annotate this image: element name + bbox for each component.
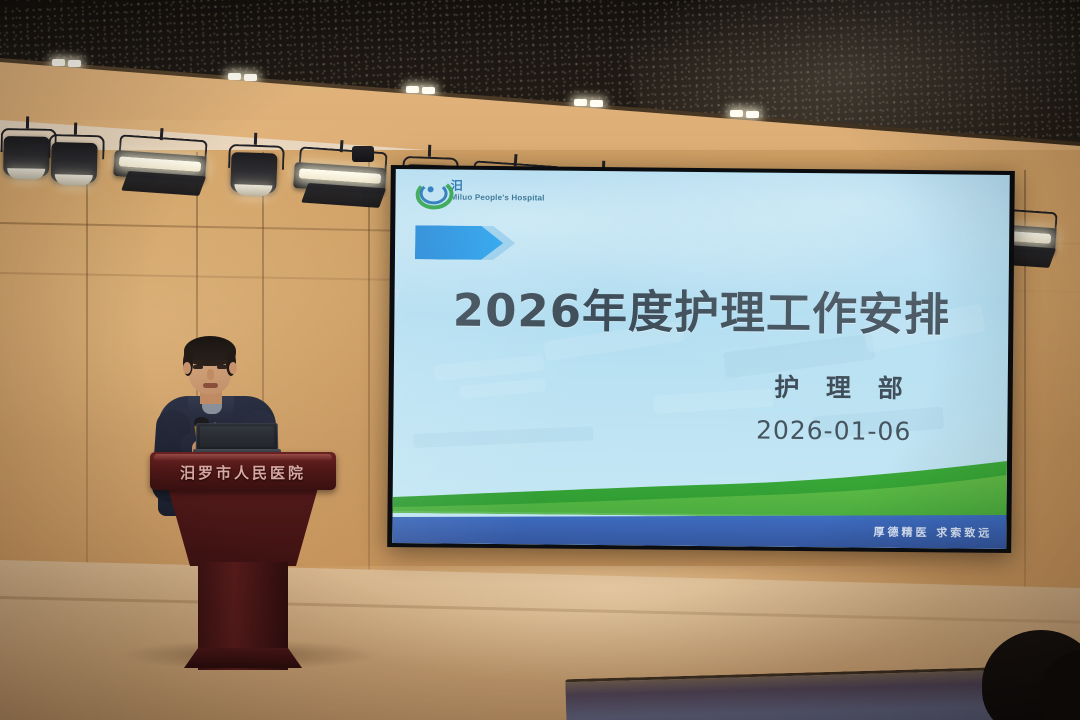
slide-footer-slogan: 厚德精医 求索致远 [873,524,992,541]
slide-department: 护 理 部 [774,368,912,405]
laptop-screen [200,426,274,447]
ceiling-downlight-icon [746,111,759,118]
speaker-eye [217,365,227,369]
slide-surface[interactable]: 汨 Miluo People's Hospital 2026年度护理工作安排 护… [392,169,1010,549]
ceiling-speaker-icon [352,146,374,162]
speaker-podium: 汨罗市人民医院 [150,452,336,667]
logo-name-en: Miluo People's Hospital [450,194,544,203]
speaker-nose [207,369,214,380]
slide-title: 2026年度护理工作安排 [394,273,1009,344]
ceiling-downlight-icon [422,87,435,94]
ceiling-downlight-icon [228,73,241,80]
presentation-photo: 汨 Miluo People's Hospital 2026年度护理工作安排 护… [0,0,1080,720]
slide-date: 2026-01-06 [756,416,912,446]
speaker-ear [183,362,191,374]
speaker-mouth [203,383,218,388]
ceiling-downlight-icon [406,86,419,93]
laptop-lid [196,423,279,450]
podium-body [168,488,318,566]
speaker-brow [216,360,228,363]
ceiling-downlight-icon [52,59,65,66]
ceiling-downlight-icon [590,100,603,107]
floor-light-reflection [260,566,960,686]
podium-name-plate: 汨罗市人民医院 [150,462,336,483]
speaker-eye [193,365,203,369]
ceiling-downlight-icon [730,110,743,117]
ceiling-downlight-icon [244,74,257,81]
hospital-arc-logo-icon [415,175,445,205]
logo-name-cn: 汨 [451,180,545,193]
speaker-ear [229,362,237,374]
led-presentation-screen[interactable]: 汨 Miluo People's Hospital 2026年度护理工作安排 护… [387,165,1015,553]
ceiling-downlight-icon [68,60,81,67]
speaker-brow [192,360,204,363]
hospital-logo: 汨 Miluo People's Hospital [415,175,544,206]
podium-base [184,648,302,668]
ceiling-downlight-icon [574,99,587,106]
